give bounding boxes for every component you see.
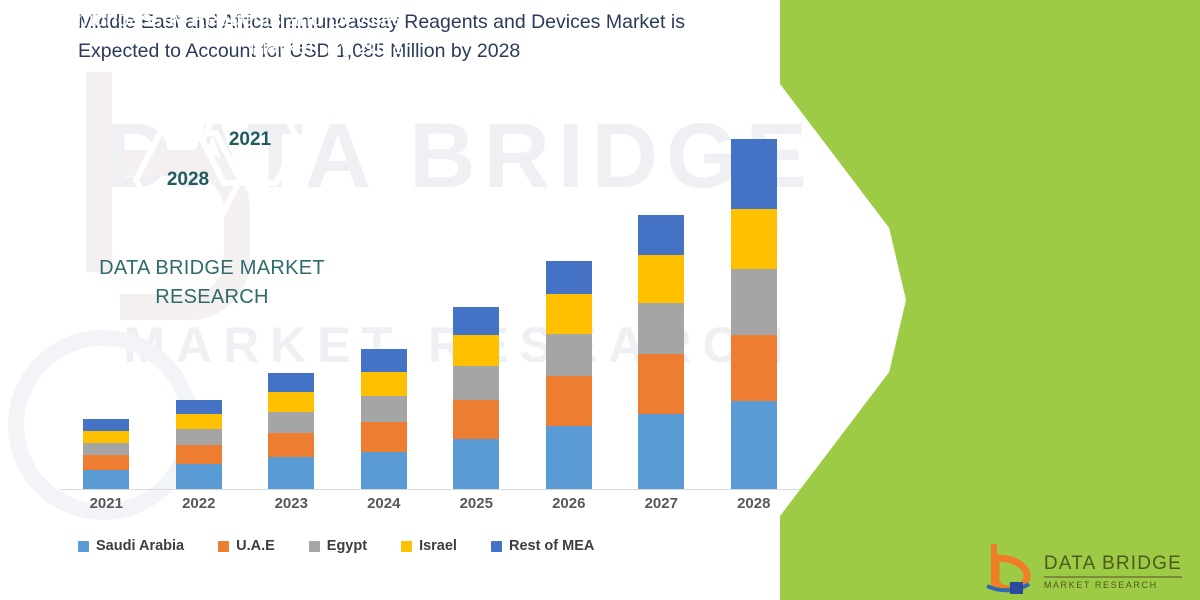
- hexagon-2021: 2021: [198, 92, 302, 188]
- hexagon-2021-label: 2021: [198, 129, 302, 151]
- logo-title: DATA BRIDGE: [1044, 553, 1182, 578]
- bar-segment-egypt-2027[interactable]: [638, 303, 684, 354]
- bar-segment-israel-2022[interactable]: [176, 414, 222, 429]
- bar-segment-israel-2026[interactable]: [546, 294, 592, 334]
- legend-swatch-icon: [78, 541, 89, 552]
- bar-column-2028[interactable]: [708, 104, 801, 489]
- bar-segment-u-a-e-2028[interactable]: [731, 335, 777, 402]
- bar-segment-u-a-e-2021[interactable]: [83, 455, 129, 470]
- brand-name-block: DATA BRIDGE MARKET RESEARCH: [20, 254, 404, 312]
- stacked-bar[interactable]: [638, 215, 684, 490]
- legend-label: Egypt: [327, 538, 367, 554]
- legend-item-u-a-e[interactable]: U.A.E: [218, 538, 275, 554]
- x-axis-line: [60, 489, 800, 490]
- hexagon-group: 2028 2021: [100, 92, 400, 222]
- bar-segment-egypt-2022[interactable]: [176, 429, 222, 445]
- stacked-bar[interactable]: [268, 373, 314, 489]
- bar-segment-rest-of-mea-2021[interactable]: [83, 419, 129, 431]
- brand-line-1: DATA BRIDGE MARKET: [20, 254, 404, 283]
- bar-segment-saudi-arabia-2026[interactable]: [546, 426, 592, 489]
- x-tick-2024: 2024: [338, 495, 431, 512]
- legend-label: Saudi Arabia: [96, 538, 184, 554]
- stacked-bar[interactable]: [731, 139, 777, 489]
- bar-segment-rest-of-mea-2024[interactable]: [361, 349, 407, 372]
- x-tick-2023: 2023: [245, 495, 338, 512]
- x-tick-2028: 2028: [708, 495, 801, 512]
- bar-segment-saudi-arabia-2021[interactable]: [83, 470, 129, 489]
- bar-segment-egypt-2023[interactable]: [268, 412, 314, 433]
- legend-item-egypt[interactable]: Egypt: [309, 538, 367, 554]
- bar-segment-u-a-e-2027[interactable]: [638, 354, 684, 414]
- brand-line-2: RESEARCH: [20, 283, 404, 312]
- bar-segment-u-a-e-2024[interactable]: [361, 422, 407, 452]
- green-shape: [780, 0, 1200, 600]
- panel-title: Immunoassay Reagents and Devices Market,…: [18, 6, 404, 63]
- stacked-bar[interactable]: [361, 349, 407, 489]
- x-tick-2021: 2021: [60, 495, 153, 512]
- bar-segment-egypt-2024[interactable]: [361, 396, 407, 421]
- b-bridge-icon: [983, 542, 1035, 594]
- bar-segment-rest-of-mea-2023[interactable]: [268, 373, 314, 391]
- legend-swatch-icon: [309, 541, 320, 552]
- logo-subtitle: MARKET RESEARCH: [1044, 580, 1182, 590]
- bar-segment-israel-2028[interactable]: [731, 209, 777, 269]
- bar-segment-israel-2025[interactable]: [453, 335, 499, 367]
- stacked-bar[interactable]: [83, 419, 129, 489]
- bar-segment-saudi-arabia-2024[interactable]: [361, 452, 407, 489]
- stacked-bar[interactable]: [176, 400, 222, 489]
- bar-segment-israel-2023[interactable]: [268, 392, 314, 412]
- bar-segment-saudi-arabia-2023[interactable]: [268, 457, 314, 489]
- legend-item-israel[interactable]: Israel: [401, 538, 457, 554]
- legend-item-saudi-arabia[interactable]: Saudi Arabia: [78, 538, 184, 554]
- bar-segment-egypt-2028[interactable]: [731, 269, 777, 334]
- legend-swatch-icon: [218, 541, 229, 552]
- bar-segment-rest-of-mea-2026[interactable]: [546, 261, 592, 294]
- bar-column-2026[interactable]: [523, 104, 616, 489]
- bar-segment-egypt-2021[interactable]: [83, 443, 129, 456]
- stacked-bar[interactable]: [546, 261, 592, 489]
- bar-segment-saudi-arabia-2025[interactable]: [453, 439, 499, 489]
- legend-label: Israel: [419, 538, 457, 554]
- bar-segment-saudi-arabia-2027[interactable]: [638, 414, 684, 489]
- bar-segment-rest-of-mea-2022[interactable]: [176, 400, 222, 414]
- x-tick-2022: 2022: [153, 495, 246, 512]
- bar-segment-rest-of-mea-2027[interactable]: [638, 215, 684, 256]
- bar-column-2027[interactable]: [615, 104, 708, 489]
- bar-column-2025[interactable]: [430, 104, 523, 489]
- x-tick-2026: 2026: [523, 495, 616, 512]
- legend-item-rest-of-mea[interactable]: Rest of MEA: [491, 538, 594, 554]
- bar-segment-israel-2027[interactable]: [638, 255, 684, 303]
- x-tick-2027: 2027: [615, 495, 708, 512]
- bar-segment-u-a-e-2022[interactable]: [176, 445, 222, 464]
- chart-legend: Saudi ArabiaU.A.EEgyptIsraelRest of MEA: [78, 538, 778, 554]
- legend-swatch-icon: [401, 541, 412, 552]
- bar-segment-u-a-e-2023[interactable]: [268, 433, 314, 458]
- bar-segment-israel-2021[interactable]: [83, 431, 129, 443]
- right-green-panel: [780, 0, 1200, 600]
- bar-segment-u-a-e-2025[interactable]: [453, 400, 499, 439]
- bar-segment-rest-of-mea-2025[interactable]: [453, 307, 499, 334]
- legend-swatch-icon: [491, 541, 502, 552]
- bar-segment-u-a-e-2026[interactable]: [546, 376, 592, 426]
- bar-segment-israel-2024[interactable]: [361, 372, 407, 396]
- bar-segment-saudi-arabia-2022[interactable]: [176, 464, 222, 489]
- x-axis-tick-labels: 20212022202320242025202620272028: [60, 495, 800, 512]
- bar-segment-egypt-2026[interactable]: [546, 334, 592, 377]
- company-logo: DATA BRIDGE MARKET RESEARCH: [983, 538, 1182, 594]
- bar-segment-egypt-2025[interactable]: [453, 366, 499, 400]
- bar-segment-saudi-arabia-2028[interactable]: [731, 401, 777, 489]
- legend-label: U.A.E: [236, 538, 275, 554]
- x-tick-2025: 2025: [430, 495, 523, 512]
- bar-segment-rest-of-mea-2028[interactable]: [731, 139, 777, 209]
- logo-text-block: DATA BRIDGE MARKET RESEARCH: [1044, 553, 1182, 594]
- legend-label: Rest of MEA: [509, 538, 594, 554]
- stacked-bar[interactable]: [453, 307, 499, 489]
